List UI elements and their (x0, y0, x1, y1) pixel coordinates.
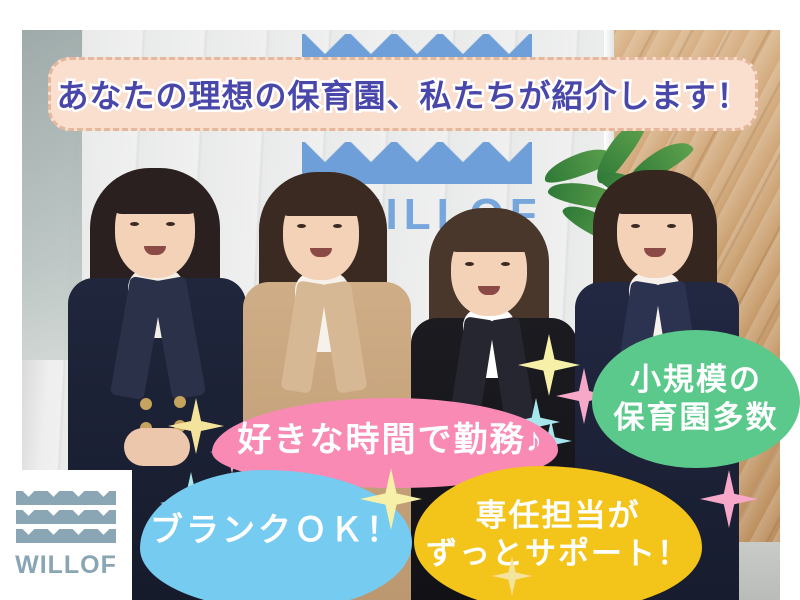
bubble-green-line2: 保育園多数 (614, 400, 779, 435)
bubble-yellow-text: 専任担当が ずっとサポート！ (426, 497, 690, 573)
sparkle-icon (492, 556, 532, 596)
headline-text: あなたの理想の保育園、私たちが紹介します！ (56, 71, 749, 117)
bubble-green-line1: 小規模の (630, 362, 762, 397)
headline-banner: あなたの理想の保育園、私たちが紹介します！ (48, 57, 758, 131)
logo-wave-row (16, 529, 116, 543)
sparkle-icon (700, 470, 758, 528)
willof-logo-block: WILLOF (0, 470, 132, 600)
logo-wave-row (16, 510, 116, 524)
logo-wave-row (16, 491, 116, 505)
willof-logo-wordmark: WILLOF (15, 551, 117, 580)
bubble-yellow-line2: ずっとサポート！ (426, 536, 690, 571)
bubble-small-nurseries: 小規模の 保育園多数 (592, 330, 800, 468)
bubble-green-text: 小規模の 保育園多数 (614, 361, 779, 437)
bubble-yellow-line1: 専任担当が (476, 498, 641, 533)
poster-root: WILLOF (0, 0, 800, 600)
bubble-pink-text: 好きな時間で勤務♪ (238, 420, 545, 461)
willof-logo-waves (16, 491, 116, 545)
sparkle-icon (360, 468, 422, 530)
